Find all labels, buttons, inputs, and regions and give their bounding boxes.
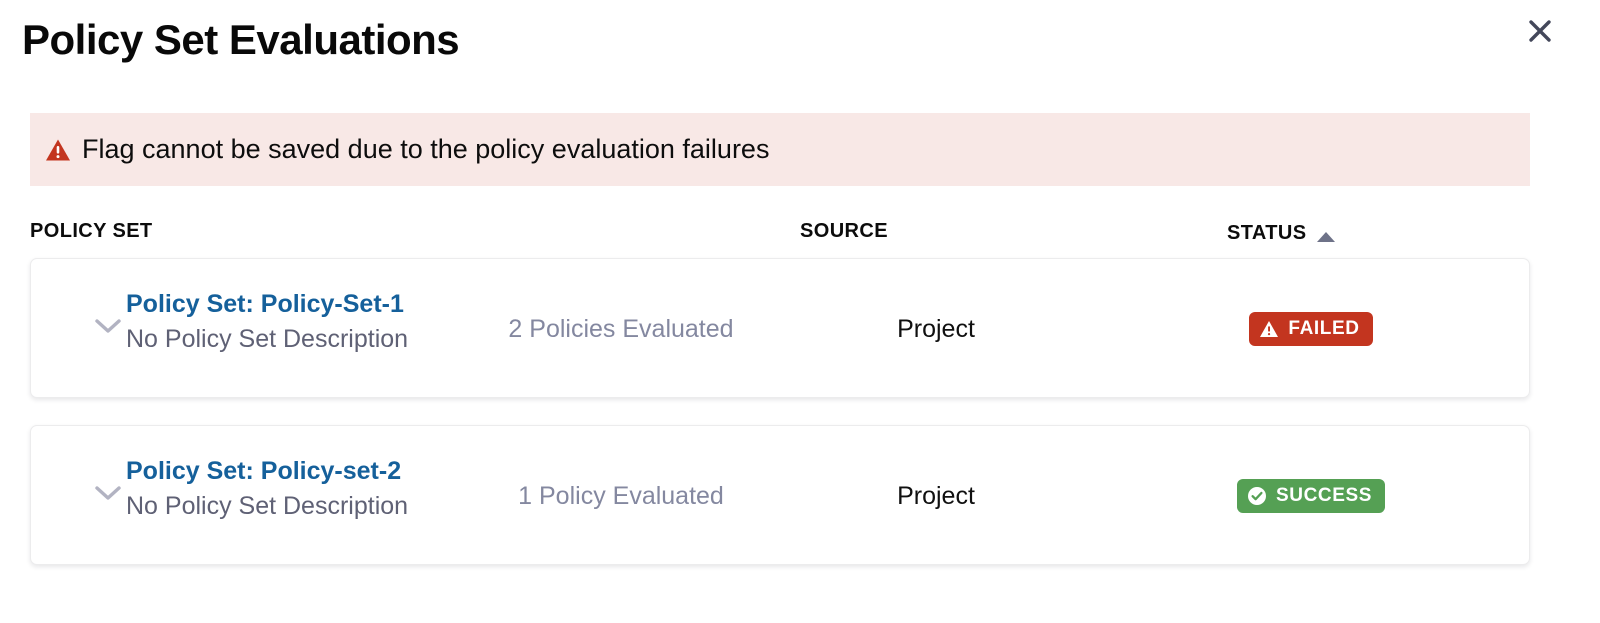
table-header-row: POLICY SET SOURCE STATUS [0,206,1600,258]
sort-ascending-icon[interactable] [1317,232,1335,242]
chevron-down-icon[interactable] [93,315,123,337]
column-header-status[interactable]: STATUS [1227,222,1306,245]
page-title: Policy Set Evaluations [22,16,459,64]
table-row[interactable]: Policy Set: Policy-Set-1 No Policy Set D… [30,258,1530,398]
alert-message: Flag cannot be saved due to the policy e… [82,133,769,165]
policy-set-link[interactable]: Policy Set: Policy-Set-1 [126,286,466,322]
check-circle-icon [1247,486,1267,506]
policies-evaluated-count: 1 Policy Evaluated [471,426,771,566]
policy-set-name-block: Policy Set: Policy-set-2 No Policy Set D… [126,453,466,525]
status-badge-label: FAILED [1288,318,1359,340]
close-icon [1525,16,1555,46]
table-row[interactable]: Policy Set: Policy-set-2 No Policy Set D… [30,425,1530,565]
policy-set-status: FAILED [1161,259,1461,399]
status-badge-label: SUCCESS [1276,485,1372,507]
policy-set-description: No Policy Set Description [126,322,466,358]
policy-failure-alert: Flag cannot be saved due to the policy e… [30,113,1530,186]
status-badge: SUCCESS [1237,479,1385,513]
status-badge: FAILED [1249,312,1372,346]
column-header-source[interactable]: SOURCE [800,220,888,243]
modal-header: Policy Set Evaluations [0,0,1600,96]
close-button[interactable] [1523,14,1557,48]
policy-set-list: Policy Set: Policy-Set-1 No Policy Set D… [0,258,1600,592]
policy-set-source: Project [791,259,1081,399]
policies-evaluated-count: 2 Policies Evaluated [471,259,771,399]
policy-set-status: SUCCESS [1161,426,1461,566]
column-header-policy-set[interactable]: POLICY SET [30,220,153,243]
chevron-down-icon[interactable] [93,482,123,504]
policy-set-source: Project [791,426,1081,566]
warning-triangle-icon [1259,319,1279,339]
policy-set-description: No Policy Set Description [126,489,466,525]
warning-triangle-icon [45,137,71,163]
policy-set-name-block: Policy Set: Policy-Set-1 No Policy Set D… [126,286,466,358]
policy-set-link[interactable]: Policy Set: Policy-set-2 [126,453,466,489]
